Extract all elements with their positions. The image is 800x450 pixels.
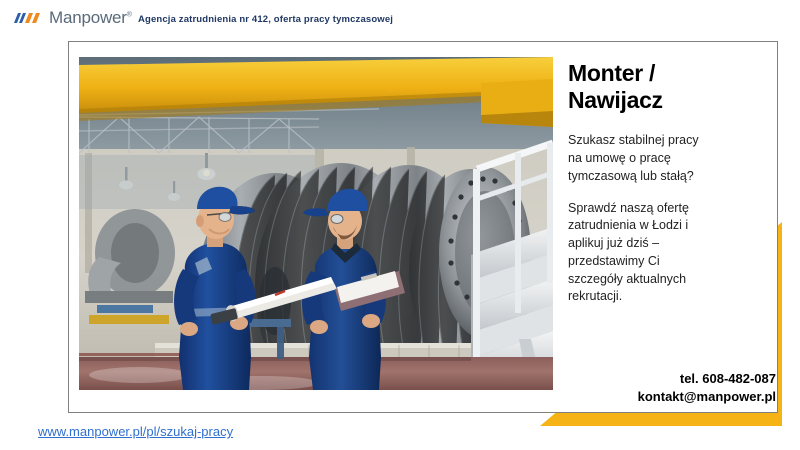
job-offer-photo — [79, 57, 553, 390]
manpower-slash-logo-icon — [14, 11, 49, 25]
contact-phone[interactable]: tel. 608-482-087 — [516, 370, 776, 388]
agency-tagline: Agencja zatrudnienia nr 412, oferta prac… — [138, 14, 393, 25]
offer-paragraph-2: Sprawdź naszą ofertę zatrudnienia w Łodz… — [568, 200, 768, 307]
website-link[interactable]: www.manpower.pl/pl/szukaj-pracy — [38, 424, 233, 439]
manpower-wordmark-text: Manpower — [49, 8, 127, 27]
contact-email[interactable]: kontakt@manpower.pl — [516, 388, 776, 406]
manpower-logo[interactable]: Manpower® — [14, 9, 132, 26]
registered-trademark-icon: ® — [127, 11, 132, 18]
offer-paragraph-1: Szukasz stabilnej pracy na umowę o pracę… — [568, 132, 768, 185]
page-header: Manpower® Agencja zatrudnienia nr 412, o… — [0, 0, 800, 42]
job-title: Monter / Nawijacz — [568, 60, 768, 114]
manpower-wordmark: Manpower® — [49, 9, 132, 26]
contact-block: tel. 608-482-087 kontakt@manpower.pl — [516, 370, 776, 407]
offer-text-column: Monter / Nawijacz Szukasz stabilnej prac… — [568, 60, 768, 320]
